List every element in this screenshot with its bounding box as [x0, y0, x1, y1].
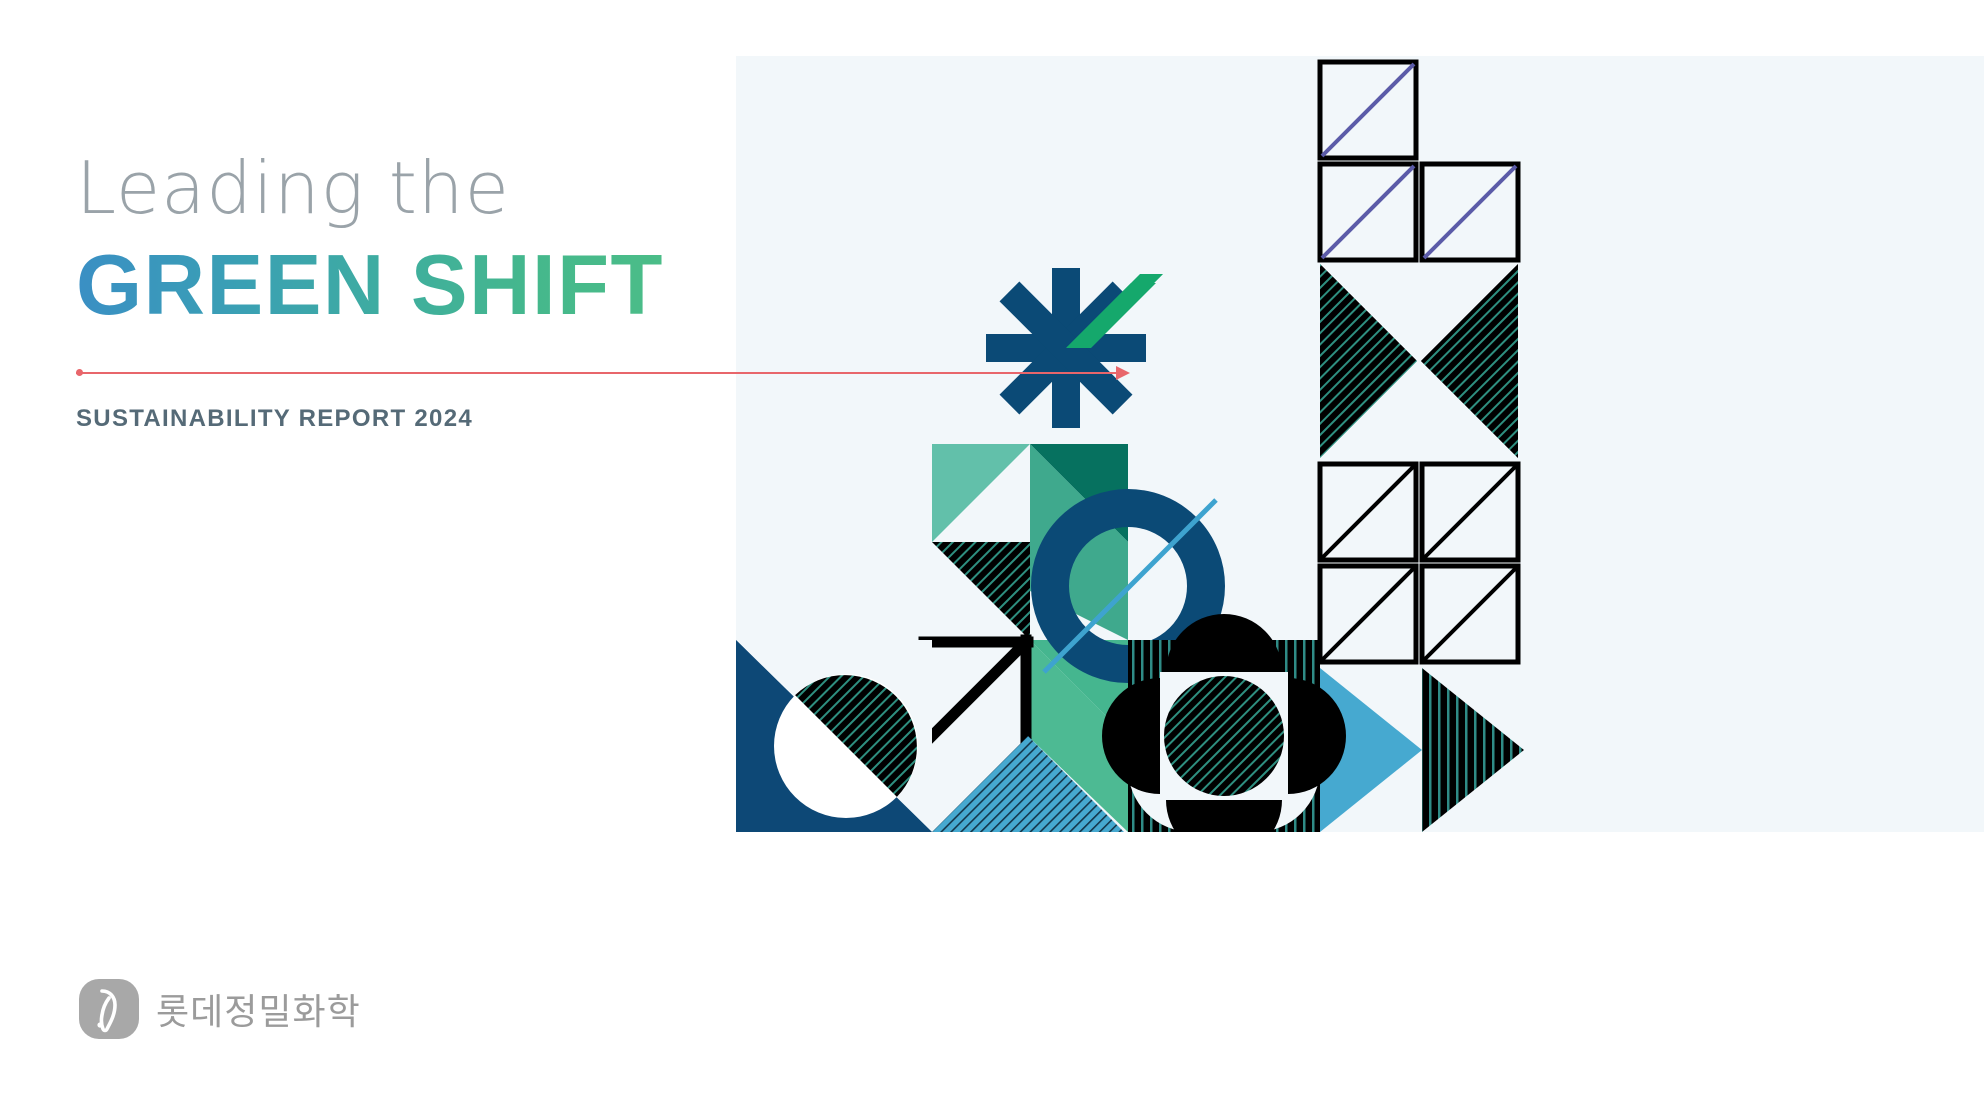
- company-logo: 롯데정밀화학: [78, 978, 361, 1040]
- title-block: Leading the GREEN SHIFT: [76, 150, 896, 336]
- navy-triangle-split-circle: [736, 640, 932, 832]
- red-arrow-rule: [76, 367, 1140, 379]
- rule-arrowhead-icon: [1116, 366, 1130, 380]
- cover-page: Leading the GREEN SHIFT SUSTAINABILITY R…: [0, 0, 1984, 1114]
- circle-cluster-grid: [1102, 614, 1346, 832]
- logo-wordmark: 롯데정밀화학: [156, 983, 361, 1035]
- title-line-2: GREEN SHIFT: [76, 236, 664, 336]
- artwork-svg: [736, 56, 1984, 832]
- geometric-artwork: [736, 56, 1984, 832]
- grid-top-right-diagonals: [1322, 64, 1516, 258]
- hatched-bowtie: [1320, 264, 1518, 458]
- title-line-1: Leading the: [76, 150, 896, 226]
- hatched-triangle: [932, 542, 1030, 640]
- grid-middle-right-diagonals: [1322, 466, 1516, 660]
- striped-triangle: [1422, 668, 1524, 832]
- rule-line: [76, 372, 1126, 374]
- report-subtitle: SUSTAINABILITY REPORT 2024: [76, 405, 473, 433]
- teal-light-triangle: [932, 444, 1030, 542]
- lotte-mark-icon: [78, 978, 140, 1040]
